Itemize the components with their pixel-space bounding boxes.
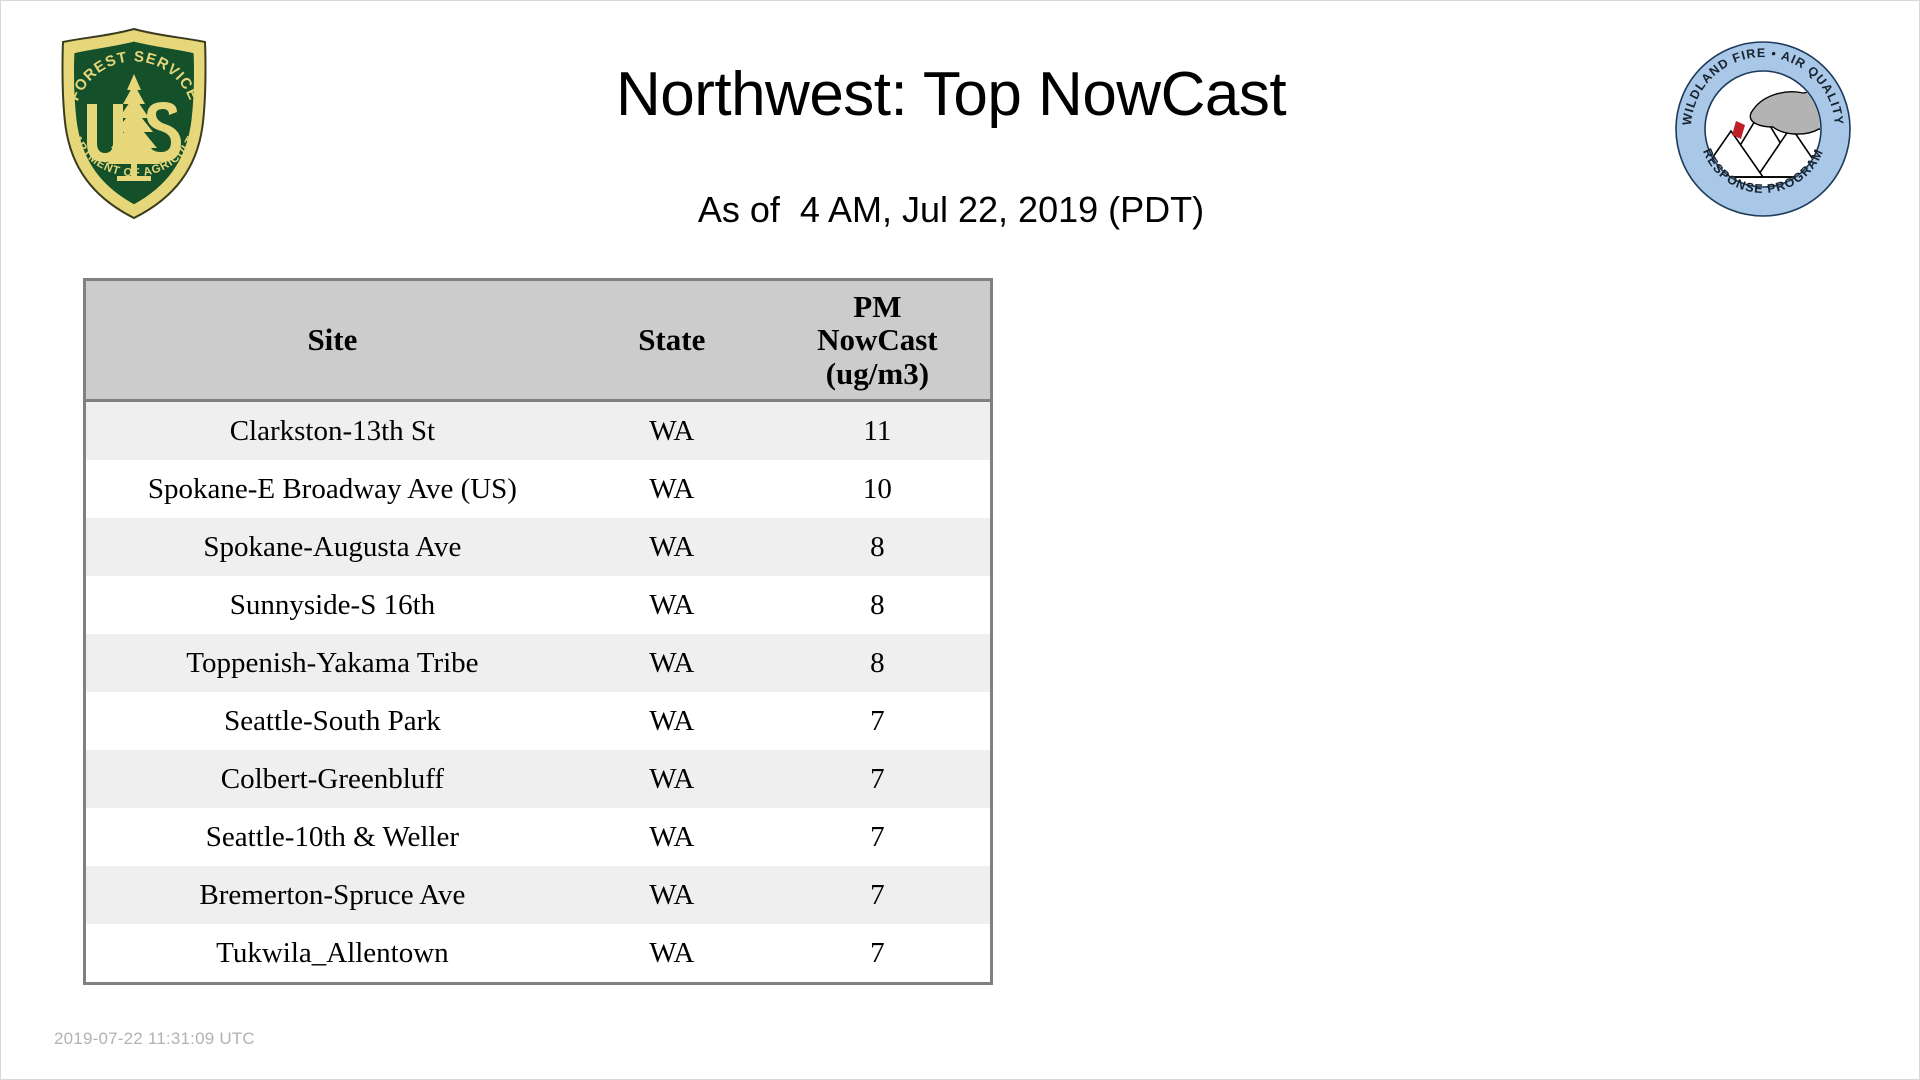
column-header-site-label: Site [86, 323, 579, 356]
table-row: Seattle-10th & WellerWA7 [85, 808, 992, 866]
table-row: Bremerton-Spruce AveWA7 [85, 866, 992, 924]
page-subtitle: As of 4 AM, Jul 22, 2019 (PDT) [241, 189, 1661, 231]
table-cell-state: WA [579, 808, 765, 866]
column-header-pm-nowcast: PM NowCast (ug/m3) [765, 280, 992, 401]
table-cell-pm: 7 [765, 866, 992, 924]
table-cell-pm: 10 [765, 460, 992, 518]
nowcast-table: Site State PM NowCast (ug/m3) Clarkston-… [83, 278, 993, 985]
table-cell-pm: 8 [765, 634, 992, 692]
table-cell-site: Colbert-Greenbluff [85, 750, 579, 808]
table-cell-site: Spokane-Augusta Ave [85, 518, 579, 576]
table-cell-pm: 7 [765, 808, 992, 866]
table-cell-state: WA [579, 692, 765, 750]
table-cell-site: Seattle-South Park [85, 692, 579, 750]
table-cell-pm: 7 [765, 692, 992, 750]
table-cell-site: Sunnyside-S 16th [85, 576, 579, 634]
footer-timestamp: 2019-07-22 11:31:09 UTC [54, 1029, 255, 1049]
table-row: Clarkston-13th StWA11 [85, 401, 992, 461]
table-row: Sunnyside-S 16thWA8 [85, 576, 992, 634]
table-cell-pm: 7 [765, 924, 992, 984]
column-header-state: State [579, 280, 765, 401]
table-cell-site: Toppenish-Yakama Tribe [85, 634, 579, 692]
column-header-site: Site [85, 280, 579, 401]
table-cell-site: Seattle-10th & Weller [85, 808, 579, 866]
column-header-pm-nowcast-label: PM NowCast (ug/m3) [765, 290, 990, 390]
table-cell-pm: 7 [765, 750, 992, 808]
table-cell-state: WA [579, 460, 765, 518]
table-cell-site: Bremerton-Spruce Ave [85, 866, 579, 924]
table-row: Spokane-E Broadway Ave (US)WA10 [85, 460, 992, 518]
table-cell-state: WA [579, 518, 765, 576]
report-page: FOREST SERVICE DEPARTMENT OF AGRICULTURE [0, 0, 1920, 1080]
table-row: Seattle-South ParkWA7 [85, 692, 992, 750]
column-header-state-label: State [579, 323, 765, 356]
table-row: Spokane-Augusta AveWA8 [85, 518, 992, 576]
table-row: Colbert-GreenbluffWA7 [85, 750, 992, 808]
table-cell-site: Tukwila_Allentown [85, 924, 579, 984]
wildland-fire-air-quality-response-program-icon: WILDLAND FIRE • AIR QUALITY RESPONSE PRO… [1673, 39, 1853, 219]
page-title: Northwest: Top NowCast [241, 59, 1661, 130]
table-body: Clarkston-13th StWA11Spokane-E Broadway … [85, 401, 992, 984]
table-cell-state: WA [579, 576, 765, 634]
table-cell-state: WA [579, 750, 765, 808]
table-cell-site: Clarkston-13th St [85, 401, 579, 461]
table-cell-state: WA [579, 866, 765, 924]
table-row: Toppenish-Yakama TribeWA8 [85, 634, 992, 692]
nowcast-table-container: Site State PM NowCast (ug/m3) Clarkston-… [83, 278, 993, 985]
table-row: Tukwila_AllentownWA7 [85, 924, 992, 984]
table-cell-site: Spokane-E Broadway Ave (US) [85, 460, 579, 518]
usfs-shield-icon: FOREST SERVICE DEPARTMENT OF AGRICULTURE [49, 26, 219, 221]
table-cell-pm: 8 [765, 518, 992, 576]
table-cell-pm: 8 [765, 576, 992, 634]
table-cell-state: WA [579, 634, 765, 692]
table-cell-pm: 11 [765, 401, 992, 461]
table-cell-state: WA [579, 401, 765, 461]
table-header-row: Site State PM NowCast (ug/m3) [85, 280, 992, 401]
table-cell-state: WA [579, 924, 765, 984]
table-header: Site State PM NowCast (ug/m3) [85, 280, 992, 401]
